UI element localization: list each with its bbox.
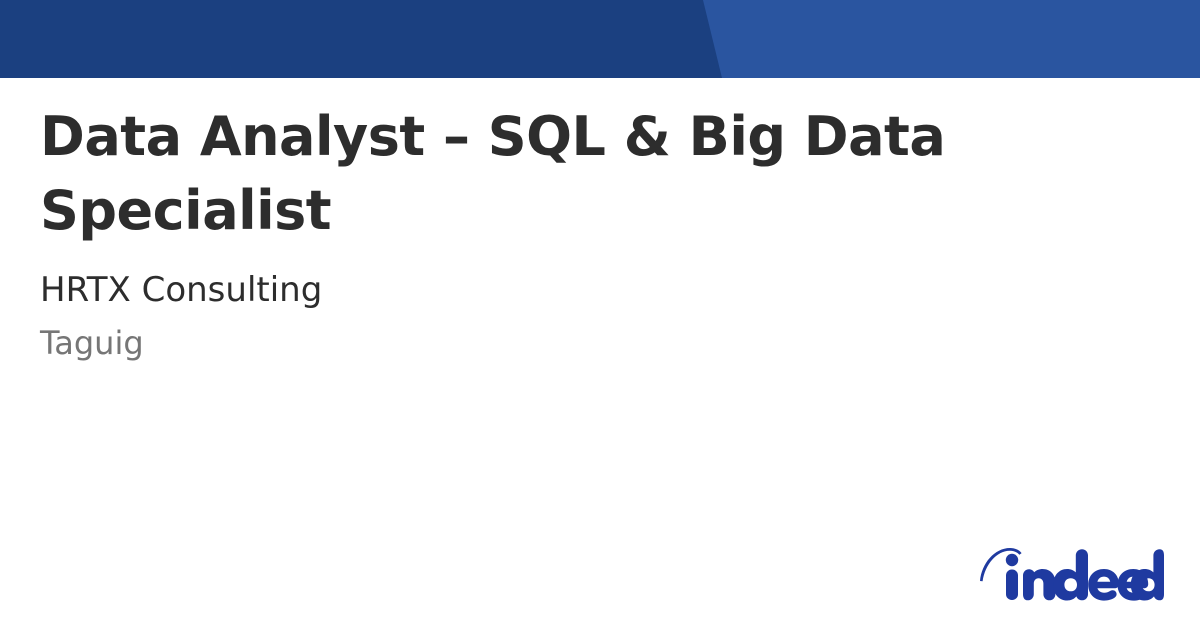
indeed-letter-i [1006,570,1018,601]
header-banner-shape [0,0,1200,78]
banner-left-panel [0,0,722,78]
job-share-card: Data Analyst – SQL & Big Data Specialist… [0,0,1200,630]
indeed-logo-mark [978,543,1164,603]
indeed-letter-e-1 [1088,569,1119,601]
indeed-logo [978,543,1164,603]
indeed-letter-n [1023,569,1055,600]
indeed-letter-d-1 [1053,549,1088,600]
header-banner [0,0,1200,78]
page-title: Data Analyst – SQL & Big Data Specialist [40,78,970,248]
indeed-i-dot [1006,554,1018,566]
indeed-letter-d-2 [1131,549,1164,600]
job-location: Taguig [40,312,1040,364]
job-info-block: Data Analyst – SQL & Big Data Specialist… [40,78,1040,364]
company-name: HRTX Consulting [40,248,1040,312]
